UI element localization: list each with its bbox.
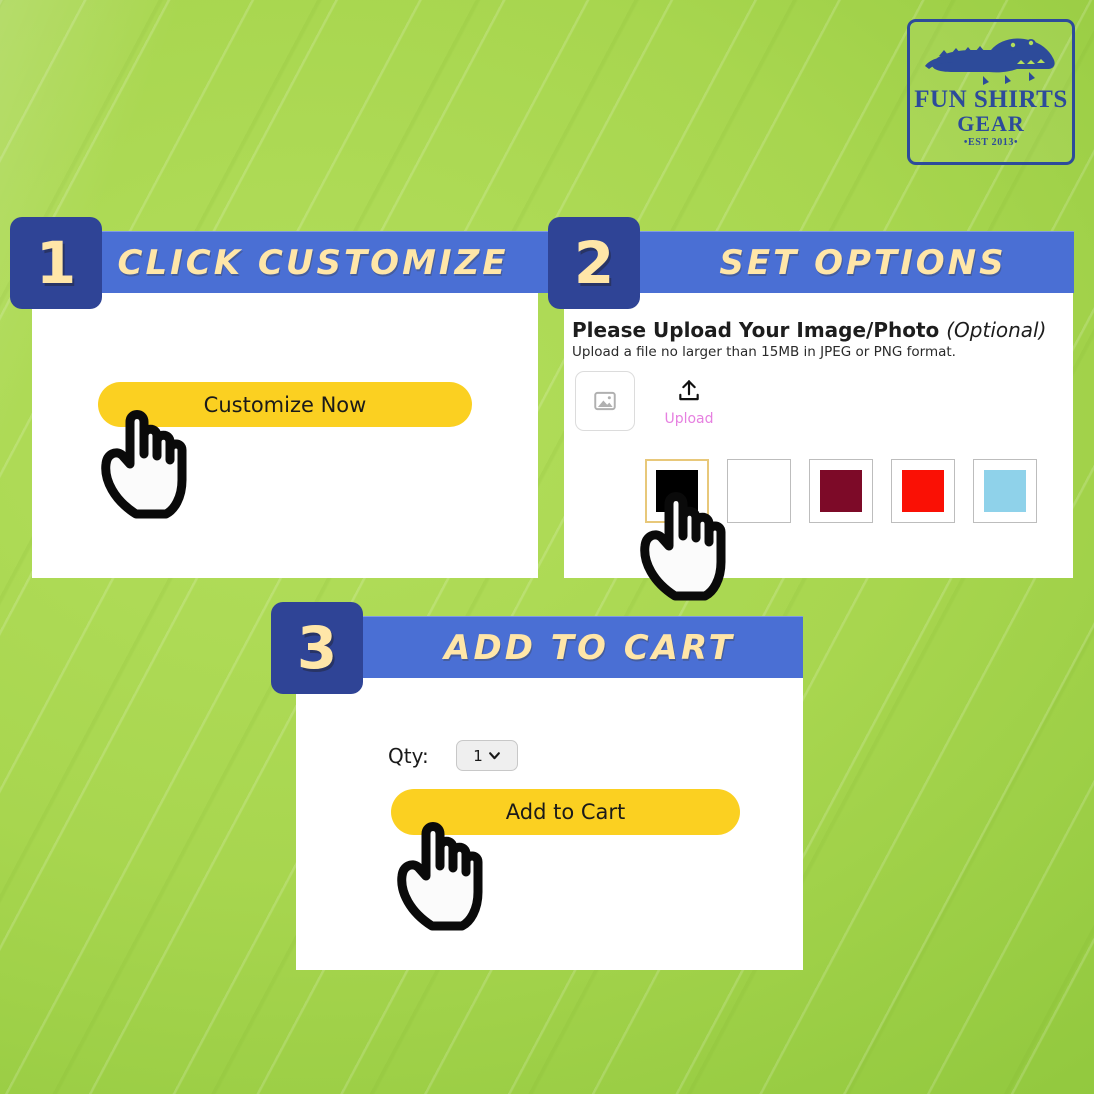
chevron-down-icon [488,749,501,762]
color-swatch-light-blue[interactable] [973,459,1037,523]
image-preview-placeholder[interactable] [575,371,635,431]
upload-subtext: Upload a file no larger than 15MB in JPE… [572,344,956,360]
upload-label: Upload [660,411,718,427]
step-3-title: ADD TO CART [296,628,803,668]
color-swatch-row [645,459,1037,523]
brand-logo-badge: FUN SHIRTS GEAR •EST 2013• [907,19,1075,165]
upload-heading-optional: (Optional) [946,318,1046,342]
step-3-banner: ADD TO CART [296,616,803,678]
upload-button[interactable]: Upload [660,378,718,427]
brand-name-line1: FUN SHIRTS [914,87,1067,112]
quantity-label: Qty: [388,744,429,768]
brand-name-line2: GEAR [957,112,1025,135]
quantity-value: 1 [473,747,483,765]
crocodile-icon [921,28,1061,86]
brand-established: •EST 2013• [964,137,1018,148]
step-1-number: 1 [10,217,102,309]
step-2-number: 2 [548,217,640,309]
step-3-number: 3 [271,602,363,694]
quantity-select[interactable]: 1 [456,740,518,771]
swatch-chip-maroon [820,470,862,512]
customize-now-button[interactable]: Customize Now [98,382,472,427]
color-swatch-red[interactable] [891,459,955,523]
color-swatch-black[interactable] [645,459,709,523]
step-2-banner: SET OPTIONS [564,231,1072,293]
upload-heading-main: Please Upload Your Image/Photo [572,318,946,342]
color-swatch-white[interactable] [727,459,791,523]
upload-heading: Please Upload Your Image/Photo (Optional… [572,318,1046,342]
step-2-title: SET OPTIONS [564,243,1072,283]
page-root: FUN SHIRTS GEAR •EST 2013• CLICK CUSTOMI… [0,0,1094,1094]
add-to-cart-button[interactable]: Add to Cart [391,789,740,835]
swatch-chip-light-blue [984,470,1026,512]
swatch-chip-red [902,470,944,512]
swatch-chip-white [738,470,780,512]
swatch-chip-black [656,470,698,512]
upload-arrow-icon [676,378,702,404]
color-swatch-maroon[interactable] [809,459,873,523]
step-1-panel [32,293,538,578]
picture-icon [592,388,618,414]
